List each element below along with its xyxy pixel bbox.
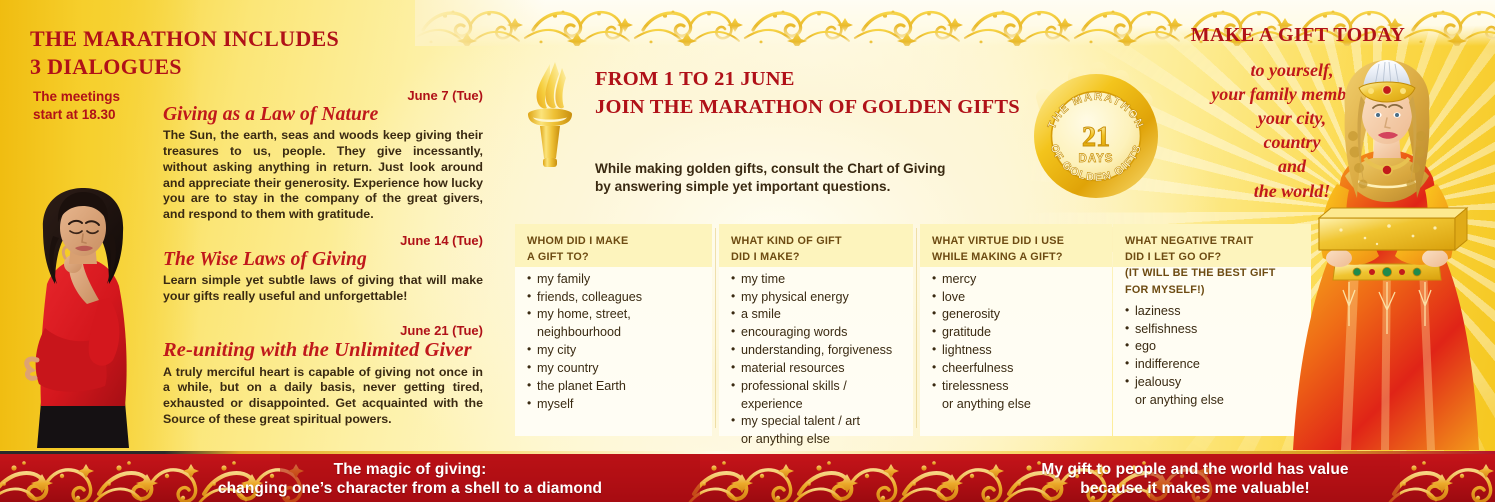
list-item: laziness bbox=[1125, 303, 1303, 321]
list-item: my home, street, bbox=[527, 306, 704, 324]
meetings-time-line1: The meetings bbox=[33, 88, 173, 106]
list-item: jealousy bbox=[1125, 374, 1303, 392]
svg-text:THE MARATHON: THE MARATHON bbox=[1046, 91, 1146, 131]
chart-card-whom[interactable]: WHOM DID I MAKE A GIFT TO? my family fri… bbox=[515, 224, 712, 436]
list-item: generosity bbox=[932, 306, 1104, 324]
list-item: neighbourhood bbox=[527, 324, 704, 342]
dialogue-2-date: June 14 (Tue) bbox=[163, 233, 483, 248]
badge-arc-bottom: OF GOLDEN GIFTS bbox=[1047, 143, 1144, 185]
footer-left-line2: changing one’s character from a shell to… bbox=[60, 480, 760, 499]
list-item: indifference bbox=[1125, 356, 1303, 374]
footer-right-line2: because it makes me valuable! bbox=[930, 480, 1460, 499]
list-item: mercy bbox=[932, 271, 1104, 289]
dialogue-2: June 14 (Tue) The Wise Laws of Giving Le… bbox=[163, 233, 483, 305]
list-item: my family bbox=[527, 271, 704, 289]
dialogue-3-body: A truly merciful heart is capable of giv… bbox=[163, 365, 483, 428]
chart-card-2-question-line2: WHILE MAKING A GIFT? bbox=[932, 249, 1102, 265]
list-item: or anything else bbox=[1125, 392, 1303, 410]
footer-right-line1: My gift to people and the world has valu… bbox=[930, 461, 1460, 480]
marathon-badge: 21 DAYS THE MARATHON OF GOLDEN GIFTS bbox=[1020, 58, 1172, 213]
list-item: selfishness bbox=[1125, 321, 1303, 339]
dialogue-3-date: June 21 (Tue) bbox=[163, 323, 483, 338]
page-title: THE MARATHON INCLUDES 3 DIALOGUES bbox=[30, 25, 450, 81]
list-item: a smile bbox=[731, 306, 905, 324]
gift-giving-woman-photo bbox=[1279, 58, 1495, 450]
list-item: my city bbox=[527, 342, 704, 360]
list-item: encouraging words bbox=[731, 324, 905, 342]
badge-arc-text: THE MARATHON OF GOLDEN GIFTS bbox=[1032, 72, 1160, 200]
chart-card-kind[interactable]: WHAT KIND OF GIFT DID I MAKE? my time my… bbox=[719, 224, 913, 436]
chart-card-1-list: my time my physical energy a smile encou… bbox=[719, 266, 913, 449]
list-item: myself bbox=[527, 396, 704, 414]
chart-card-3-question-line2: DID I LET GO OF? bbox=[1125, 249, 1301, 265]
badge-arc-top: THE MARATHON bbox=[1046, 91, 1146, 131]
chart-card-0-list: my family friends, colleagues my home, s… bbox=[515, 266, 712, 414]
chart-card-3-question-line3: (IT WILL BE THE BEST GIFT bbox=[1125, 265, 1301, 281]
dialogue-1-title: Giving as a Law of Nature bbox=[163, 104, 483, 125]
footer-left-text: The magic of giving: changing one’s char… bbox=[60, 461, 760, 499]
chart-card-0-question-line2: A GIFT TO? bbox=[527, 249, 702, 265]
torch-icon bbox=[519, 60, 581, 170]
center-subtext: While making golden gifts, consult the C… bbox=[595, 160, 995, 196]
list-item: lightness bbox=[932, 342, 1104, 360]
golden-gift-box bbox=[1319, 208, 1467, 250]
right-heading: MAKE A GIFT TODAY bbox=[1123, 24, 1473, 47]
list-item: material resources bbox=[731, 360, 905, 378]
list-item: tirelessness bbox=[932, 378, 1104, 396]
footer-left-line1: The magic of giving: bbox=[60, 461, 760, 480]
thinking-woman-photo bbox=[13, 188, 153, 448]
list-item: friends, colleagues bbox=[527, 289, 704, 307]
list-item: ego bbox=[1125, 338, 1303, 356]
chart-card-0-question: WHOM DID I MAKE A GIFT TO? bbox=[515, 224, 712, 266]
dialogue-1-body: The Sun, the earth, seas and woods keep … bbox=[163, 128, 483, 222]
list-item: gratitude bbox=[932, 324, 1104, 342]
chart-card-0-question-line1: WHOM DID I MAKE bbox=[527, 233, 702, 249]
dialogue-1-date: June 7 (Tue) bbox=[163, 88, 483, 103]
chart-card-3-question-line4: FOR MYSELF!) bbox=[1125, 282, 1301, 298]
dialogue-2-title: The Wise Laws of Giving bbox=[163, 249, 483, 270]
chart-card-virtue[interactable]: WHAT VIRTUE DID I USE WHILE MAKING A GIF… bbox=[920, 224, 1112, 436]
chart-card-1-question-line1: WHAT KIND OF GIFT bbox=[731, 233, 903, 249]
page-title-line2: 3 DIALOGUES bbox=[30, 53, 450, 81]
chart-card-2-list: mercy love generosity gratitude lightnes… bbox=[920, 266, 1112, 414]
list-item: my physical energy bbox=[731, 289, 905, 307]
gift-giving-woman-illustration bbox=[1279, 58, 1495, 450]
list-item: my time bbox=[731, 271, 905, 289]
dialogue-3: June 21 (Tue) Re-uniting with the Unlimi… bbox=[163, 323, 483, 427]
list-item: my special talent / art bbox=[731, 413, 905, 431]
meetings-time-line2: start at 18.30 bbox=[33, 106, 173, 124]
page-title-line1: THE MARATHON INCLUDES bbox=[30, 25, 450, 53]
list-item: or anything else bbox=[932, 396, 1104, 414]
list-item: cheerfulness bbox=[932, 360, 1104, 378]
list-item: understanding, forgiveness bbox=[731, 342, 905, 360]
torch-illustration bbox=[519, 60, 581, 170]
center-subtext-line2: by answering simple yet important questi… bbox=[595, 178, 995, 196]
promo-banner: THE MARATHON INCLUDES 3 DIALOGUES The me… bbox=[0, 0, 1495, 502]
footer-right-text: My gift to people and the world has valu… bbox=[930, 461, 1460, 499]
chart-card-2-question-line1: WHAT VIRTUE DID I USE bbox=[932, 233, 1102, 249]
chart-of-giving: WHOM DID I MAKE A GIFT TO? my family fri… bbox=[515, 224, 1311, 436]
chart-card-1-question-line2: DID I MAKE? bbox=[731, 249, 903, 265]
dialogue-3-title: Re-uniting with the Unlimited Giver bbox=[163, 339, 483, 362]
svg-text:OF GOLDEN GIFTS: OF GOLDEN GIFTS bbox=[1047, 143, 1144, 185]
list-item: the planet Earth bbox=[527, 378, 704, 396]
thinking-woman-illustration bbox=[13, 188, 153, 448]
meetings-time-note: The meetings start at 18.30 bbox=[33, 88, 173, 124]
center-subtext-line1: While making golden gifts, consult the C… bbox=[595, 160, 995, 178]
footer-banner: The magic of giving: changing one’s char… bbox=[0, 454, 1495, 502]
chart-card-1-question: WHAT KIND OF GIFT DID I MAKE? bbox=[719, 224, 913, 266]
dialogue-2-body: Learn simple yet subtle laws of giving t… bbox=[163, 273, 483, 304]
list-item: love bbox=[932, 289, 1104, 307]
dialogue-1: June 7 (Tue) Giving as a Law of Nature T… bbox=[163, 88, 483, 223]
chart-card-2-question: WHAT VIRTUE DID I USE WHILE MAKING A GIF… bbox=[920, 224, 1112, 266]
list-item: my country bbox=[527, 360, 704, 378]
list-item: professional skills / experience bbox=[731, 378, 905, 414]
chart-card-3-question-line1: WHAT NEGATIVE TRAIT bbox=[1125, 233, 1301, 249]
list-item: or anything else bbox=[731, 431, 905, 449]
